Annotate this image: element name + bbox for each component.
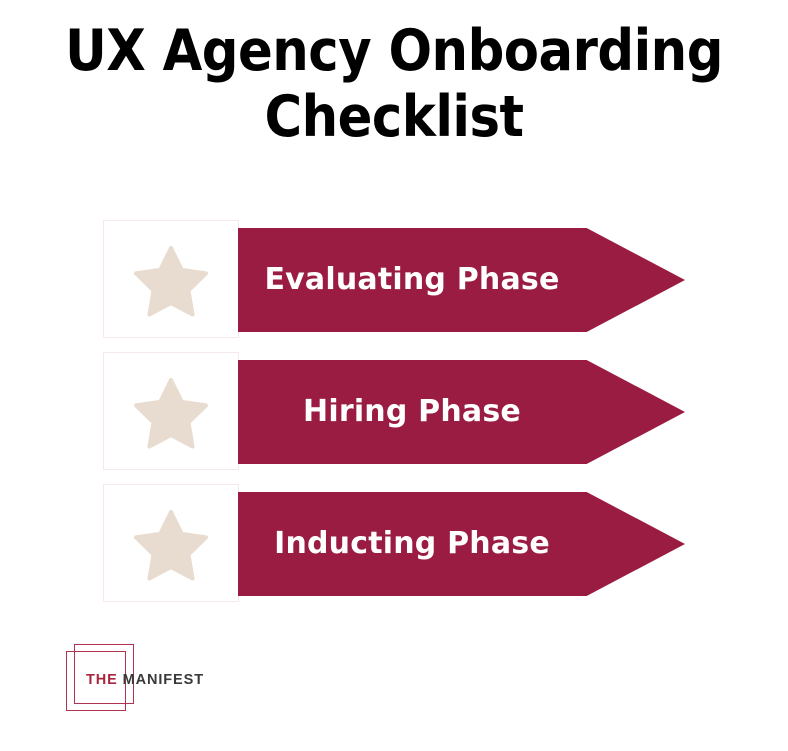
star-icon [132, 506, 210, 581]
phase-arrow-2[interactable]: Hiring Phase [238, 360, 685, 464]
star-icon [132, 374, 210, 449]
logo-word-the: THE [86, 672, 123, 688]
infographic-canvas: UX Agency Onboarding Checklist Evaluatin… [0, 0, 788, 751]
checklist-item-2[interactable]: Hiring Phase [103, 352, 693, 470]
phase-label-2: Hiring Phase [238, 395, 586, 429]
the-manifest-logo[interactable]: THE MANIFEST [64, 644, 214, 710]
phase-label-3: Inducting Phase [238, 527, 586, 561]
checklist-item-1[interactable]: Evaluating Phase [103, 220, 693, 338]
phase-label-1: Evaluating Phase [238, 263, 586, 297]
page-title-line-2: Checklist [28, 84, 760, 150]
phase-arrow-1[interactable]: Evaluating Phase [238, 228, 685, 332]
page-title-line-1: UX Agency Onboarding [28, 18, 760, 84]
phase-arrow-3[interactable]: Inducting Phase [238, 492, 685, 596]
star-box-3 [103, 484, 239, 602]
logo-word-manifest: MANIFEST [123, 672, 204, 688]
logo-wordmark: THE MANIFEST [86, 672, 204, 688]
star-box-2 [103, 352, 239, 470]
star-box-1 [103, 220, 239, 338]
star-icon [132, 242, 210, 317]
checklist-item-3[interactable]: Inducting Phase [103, 484, 693, 602]
checklist-banner-list: Evaluating Phase Hiring Phase Inductin [103, 220, 693, 602]
page-title: UX Agency Onboarding Checklist [28, 18, 760, 150]
